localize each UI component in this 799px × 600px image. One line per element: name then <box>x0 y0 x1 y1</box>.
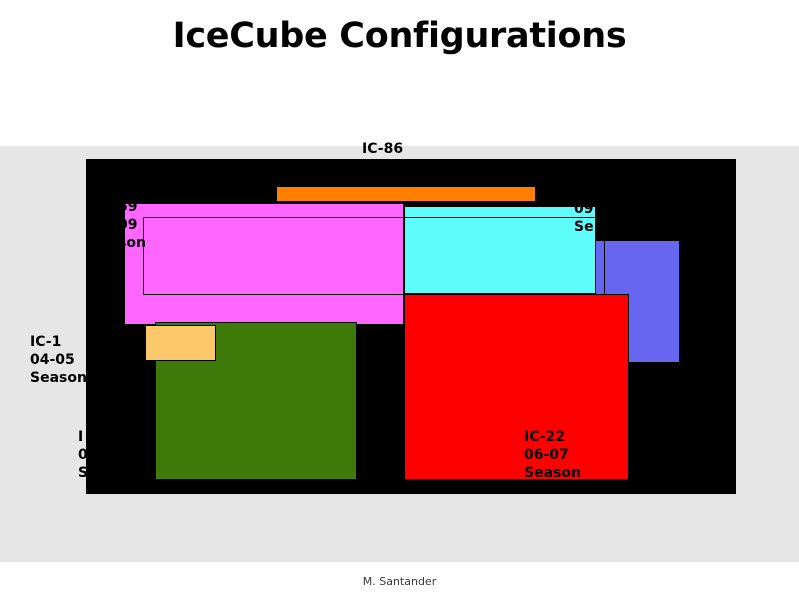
footer-author: M. Santander <box>0 575 799 588</box>
box-ic-1[interactable] <box>145 325 216 361</box>
label-ic-1: IC-1 04-05 Season <box>30 333 87 387</box>
box-ic-22[interactable] <box>404 294 629 480</box>
page-title: IceCube Configurations <box>0 16 799 56</box>
outline-ic-59-inner <box>143 217 605 295</box>
label-ic-40: 09 Se <box>574 200 594 236</box>
label-ic-86: IC-86 <box>362 140 403 158</box>
label-ic-22: IC-22 06-07 Season <box>524 428 581 482</box>
label-ic-59: 59 09 son <box>118 198 146 252</box>
label-ic-9: I 0 S <box>78 428 88 482</box>
box-ic-86[interactable] <box>276 186 536 202</box>
